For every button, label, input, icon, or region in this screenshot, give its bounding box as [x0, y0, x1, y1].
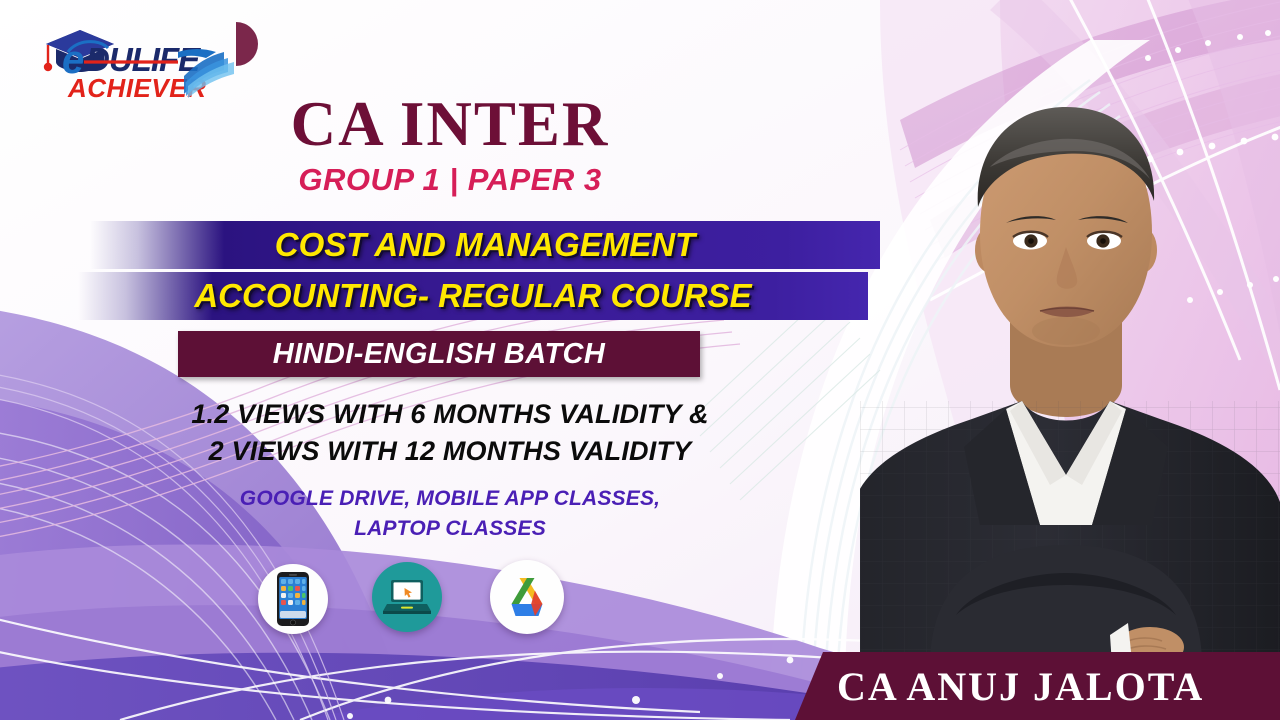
course-poster: e DULIFE ACHIEVER CA INTER GROUP 1 | PAP…	[0, 0, 1280, 720]
presenter-name-bar: CA ANUJ JALOTA	[795, 652, 1280, 720]
mobile-phone-icon	[258, 564, 328, 634]
page-title: CA INTER	[0, 92, 900, 156]
headline-block: CA INTER GROUP 1 | PAPER 3	[0, 92, 900, 198]
presenter-photo	[860, 55, 1280, 665]
google-drive-icon	[490, 560, 564, 634]
subject-bar-line1: COST AND MANAGEMENT	[90, 221, 880, 269]
batch-badge-label: HINDI-ENGLISH BATCH	[273, 338, 606, 371]
subject-bar-line2: ACCOUNTING- REGULAR COURSE	[78, 272, 868, 320]
presenter-name: CA ANUJ JALOTA	[837, 663, 1204, 710]
platforms-line-2: LAPTOP CLASSES	[40, 514, 860, 544]
group-paper-subtitle: GROUP 1 | PAPER 3	[0, 162, 900, 198]
validity-line-1: 1.2 VIEWS WITH 6 MONTHS VALIDITY &	[40, 396, 860, 433]
platform-icons	[258, 560, 588, 642]
validity-line-2: 2 VIEWS WITH 12 MONTHS VALIDITY	[40, 433, 860, 470]
platforms-line-1: GOOGLE DRIVE, MOBILE APP CLASSES,	[40, 484, 860, 514]
validity-block: 1.2 VIEWS WITH 6 MONTHS VALIDITY & 2 VIE…	[40, 396, 860, 470]
subject-bar-line2-text: ACCOUNTING- REGULAR COURSE	[194, 277, 751, 315]
batch-badge: HINDI-ENGLISH BATCH	[178, 331, 700, 377]
subject-bar-line1-text: COST AND MANAGEMENT	[275, 226, 695, 264]
platforms-block: GOOGLE DRIVE, MOBILE APP CLASSES, LAPTOP…	[40, 484, 860, 545]
laptop-icon	[372, 562, 442, 632]
